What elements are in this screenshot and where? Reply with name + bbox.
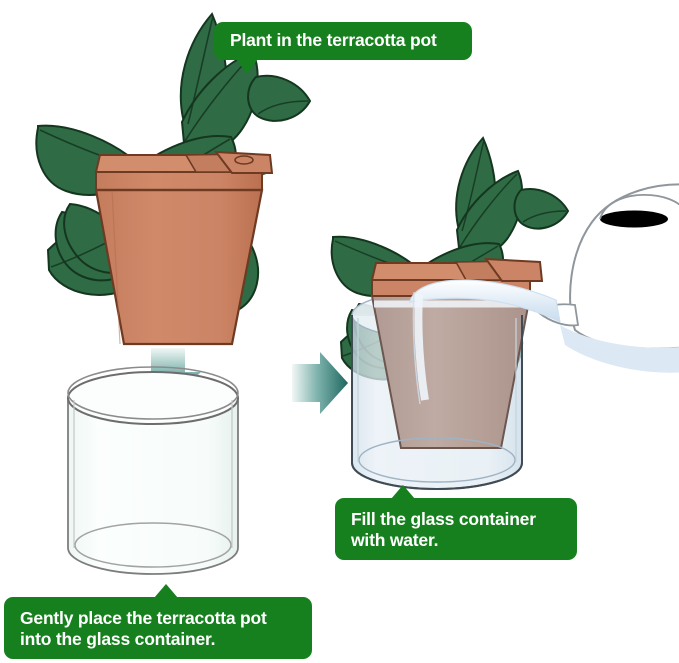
callout-place-pot-in-glass: Gently place the terracotta pot into the… bbox=[4, 597, 312, 659]
scene-artwork bbox=[0, 0, 679, 663]
callout-fill-line1: Fill the glass container bbox=[351, 509, 563, 530]
pot-left-rim bbox=[96, 172, 262, 190]
callout-plant-in-terracotta-pot: Plant in the terracotta pot bbox=[214, 22, 472, 60]
pot-right-body bbox=[372, 296, 530, 448]
callout-place-line2: into the glass container. bbox=[20, 629, 298, 650]
callout-place-line1: Gently place the terracotta pot bbox=[20, 608, 298, 629]
callout-place-tail bbox=[154, 584, 178, 598]
callout-fill-tail bbox=[391, 485, 415, 499]
callout-fill-line2: with water. bbox=[351, 530, 563, 551]
callout-plant-tail bbox=[236, 59, 258, 74]
arrow-right-icon bbox=[292, 352, 348, 414]
callout-plant-text: Plant in the terracotta pot bbox=[230, 30, 458, 51]
pot-left-group bbox=[96, 152, 272, 344]
pot-left-body bbox=[96, 190, 262, 344]
glass-container-empty bbox=[68, 367, 238, 574]
illustration-stage: Plant in the terracotta pot Fill the gla… bbox=[0, 0, 679, 663]
callout-fill-glass-container: Fill the glass container with water. bbox=[335, 498, 577, 560]
watering-can-opening bbox=[600, 211, 668, 228]
